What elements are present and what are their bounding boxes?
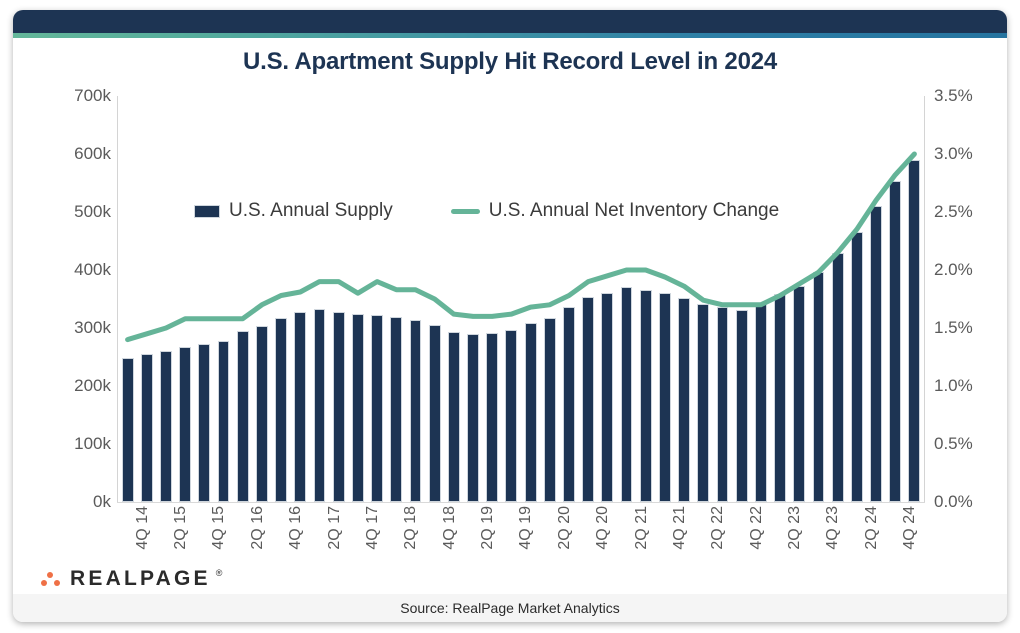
left-axis-tick-label: 500k bbox=[41, 202, 111, 222]
source-bar: Source: RealPage Market Analytics bbox=[13, 594, 1007, 622]
realpage-logo: REALPAGE ® bbox=[41, 566, 222, 592]
legend-label-supply: U.S. Annual Supply bbox=[229, 200, 393, 222]
x-axis-tick-label: 4Q 22 bbox=[748, 506, 766, 550]
right-axis-ticks: 0.0%0.5%1.0%1.5%2.0%2.5%3.0%3.5% bbox=[934, 96, 1007, 502]
x-axis-baseline bbox=[117, 502, 925, 503]
left-axis-tick-label: 600k bbox=[41, 144, 111, 164]
x-axis-tick-label: 4Q 14 bbox=[134, 506, 152, 550]
right-axis-line bbox=[924, 96, 925, 503]
x-axis-tick-label: 4Q 21 bbox=[671, 506, 689, 550]
header-bar bbox=[13, 10, 1007, 33]
right-axis-tick-label: 2.5% bbox=[934, 202, 1006, 222]
line-series bbox=[118, 96, 924, 502]
net-inventory-change-line bbox=[128, 154, 915, 340]
chart-legend: U.S. Annual Supply U.S. Annual Net Inven… bbox=[194, 200, 779, 222]
x-axis-tick-label: 4Q 15 bbox=[210, 506, 228, 550]
x-axis-tick-label: 2Q 23 bbox=[786, 506, 804, 550]
right-axis-tick-label: 3.5% bbox=[934, 86, 1006, 106]
right-axis-tick-label: 1.5% bbox=[934, 318, 1006, 338]
right-axis-tick-label: 0.5% bbox=[934, 434, 1006, 454]
x-axis-tick-label: 4Q 18 bbox=[441, 506, 459, 550]
x-axis-tick-label: 2Q 15 bbox=[172, 506, 190, 550]
right-axis-tick-label: 2.0% bbox=[934, 260, 1006, 280]
plot-area bbox=[118, 96, 924, 502]
left-axis-tick-label: 700k bbox=[41, 86, 111, 106]
legend-swatch-bar-icon bbox=[194, 205, 220, 218]
x-axis-tick-label: 4Q 16 bbox=[287, 506, 305, 550]
chart-title: U.S. Apartment Supply Hit Record Level i… bbox=[13, 48, 1007, 76]
x-axis-tick-label: 4Q 20 bbox=[594, 506, 612, 550]
legend-item-supply: U.S. Annual Supply bbox=[194, 200, 393, 222]
left-axis-ticks: 0k100k200k300k400k500k600k700k bbox=[33, 96, 111, 502]
source-text: Source: RealPage Market Analytics bbox=[400, 600, 619, 616]
left-axis-tick-label: 300k bbox=[41, 318, 111, 338]
x-axis-tick-label: 4Q 24 bbox=[901, 506, 919, 550]
left-axis-tick-label: 100k bbox=[41, 434, 111, 454]
x-axis-tick-label: 2Q 20 bbox=[556, 506, 574, 550]
right-axis-tick-label: 0.0% bbox=[934, 492, 1006, 512]
left-axis-tick-label: 0k bbox=[41, 492, 111, 512]
right-axis-tick-label: 3.0% bbox=[934, 144, 1006, 164]
legend-item-net-inventory-change: U.S. Annual Net Inventory Change bbox=[451, 200, 779, 222]
legend-label-net-inventory-change: U.S. Annual Net Inventory Change bbox=[489, 200, 779, 222]
x-axis-tick-label: 4Q 17 bbox=[364, 506, 382, 550]
x-axis-tick-label: 2Q 21 bbox=[633, 506, 651, 550]
x-axis-tick-label: 4Q 19 bbox=[517, 506, 535, 550]
x-axis-ticks: 4Q 142Q 154Q 152Q 164Q 162Q 174Q 172Q 18… bbox=[118, 506, 924, 568]
x-axis-tick-label: 2Q 19 bbox=[479, 506, 497, 550]
x-axis-tick-label: 2Q 18 bbox=[402, 506, 420, 550]
legend-swatch-line-icon bbox=[451, 209, 480, 214]
x-axis-tick-label: 2Q 22 bbox=[709, 506, 727, 550]
header-accent-gradient bbox=[13, 33, 1007, 38]
chart-card: U.S. Apartment Supply Hit Record Level i… bbox=[13, 10, 1007, 622]
realpage-wordmark: REALPAGE bbox=[70, 567, 211, 591]
x-axis-tick-label: 2Q 24 bbox=[863, 506, 881, 550]
left-axis-tick-label: 400k bbox=[41, 260, 111, 280]
realpage-dots-icon bbox=[41, 569, 63, 589]
right-axis-tick-label: 1.0% bbox=[934, 376, 1006, 396]
x-axis-tick-label: 4Q 23 bbox=[824, 506, 842, 550]
x-axis-tick-label: 2Q 17 bbox=[326, 506, 344, 550]
left-axis-tick-label: 200k bbox=[41, 376, 111, 396]
registered-mark-icon: ® bbox=[216, 568, 223, 578]
x-axis-tick-label: 2Q 16 bbox=[249, 506, 267, 550]
